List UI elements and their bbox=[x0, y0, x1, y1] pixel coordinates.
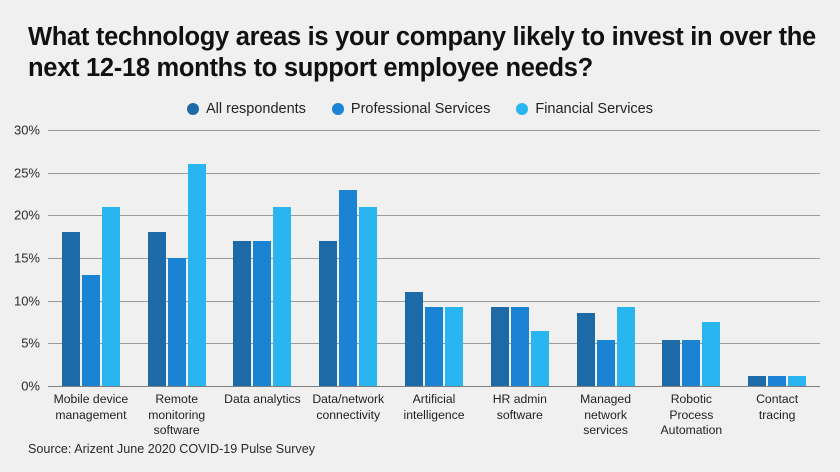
bar bbox=[168, 258, 186, 386]
bar bbox=[148, 232, 166, 386]
bar bbox=[682, 340, 700, 386]
bar bbox=[531, 331, 549, 386]
y-axis-tick-label: 10% bbox=[14, 293, 40, 308]
legend-swatch-icon bbox=[187, 103, 199, 115]
y-axis-tick-label: 20% bbox=[14, 208, 40, 223]
bar-group bbox=[477, 130, 563, 386]
bar bbox=[82, 275, 100, 386]
bar bbox=[273, 207, 291, 386]
bar bbox=[405, 292, 423, 386]
gridline: 0% bbox=[48, 386, 820, 387]
bar bbox=[617, 307, 635, 386]
bar bbox=[102, 207, 120, 386]
x-axis-category-label: Mobile device management bbox=[48, 392, 134, 439]
bar bbox=[425, 307, 443, 386]
bar bbox=[577, 313, 595, 386]
x-axis-labels: Mobile device managementRemote monitorin… bbox=[48, 392, 820, 439]
bar bbox=[188, 164, 206, 386]
legend-item: All respondents bbox=[187, 101, 306, 117]
bar bbox=[445, 307, 463, 386]
bar bbox=[62, 232, 80, 386]
y-axis-tick-label: 15% bbox=[14, 251, 40, 266]
x-axis-category-label: Managed network services bbox=[563, 392, 649, 439]
legend-label: All respondents bbox=[206, 101, 306, 117]
x-axis-category-label: Robotic Process Automation bbox=[648, 392, 734, 439]
bar bbox=[253, 241, 271, 386]
y-axis-tick-label: 25% bbox=[14, 165, 40, 180]
bar bbox=[491, 307, 509, 386]
bar bbox=[662, 340, 680, 386]
bar-group bbox=[563, 130, 649, 386]
legend-swatch-icon bbox=[332, 103, 344, 115]
x-axis-category-label: HR admin software bbox=[477, 392, 563, 439]
bar bbox=[597, 340, 615, 386]
bar-groups bbox=[48, 130, 820, 386]
bar-group bbox=[134, 130, 220, 386]
chart-container: What technology areas is your company li… bbox=[0, 0, 840, 472]
bar-group bbox=[648, 130, 734, 386]
bar-group bbox=[305, 130, 391, 386]
legend-item: Professional Services bbox=[332, 101, 490, 117]
legend-swatch-icon bbox=[516, 103, 528, 115]
plot-area: 30%25%20%15%10%5%0% bbox=[48, 130, 820, 386]
chart-legend: All respondentsProfessional ServicesFina… bbox=[0, 101, 840, 117]
source-note: Source: Arizent June 2020 COVID-19 Pulse… bbox=[28, 442, 315, 456]
bar bbox=[702, 322, 720, 386]
bar bbox=[319, 241, 337, 386]
bar-group bbox=[391, 130, 477, 386]
bar bbox=[748, 376, 766, 386]
bar bbox=[339, 190, 357, 386]
bar bbox=[359, 207, 377, 386]
x-axis-category-label: Remote monitoring software bbox=[134, 392, 220, 439]
y-axis-tick-label: 30% bbox=[14, 123, 40, 138]
legend-item: Financial Services bbox=[516, 101, 653, 117]
x-axis-category-label: Artificial intelligence bbox=[391, 392, 477, 439]
bar bbox=[768, 376, 786, 386]
bar-group bbox=[48, 130, 134, 386]
y-axis-tick-label: 0% bbox=[21, 379, 40, 394]
y-axis-tick-label: 5% bbox=[21, 336, 40, 351]
x-axis-category-label: Contact tracing bbox=[734, 392, 820, 439]
x-axis-category-label: Data analytics bbox=[220, 392, 306, 439]
bar-group bbox=[734, 130, 820, 386]
bar bbox=[233, 241, 251, 386]
bar bbox=[511, 307, 529, 386]
bar bbox=[788, 376, 806, 386]
legend-label: Financial Services bbox=[535, 101, 653, 117]
page-title: What technology areas is your company li… bbox=[28, 22, 818, 84]
x-axis-category-label: Data/network connectivity bbox=[305, 392, 391, 439]
legend-label: Professional Services bbox=[351, 101, 490, 117]
bar-group bbox=[220, 130, 306, 386]
